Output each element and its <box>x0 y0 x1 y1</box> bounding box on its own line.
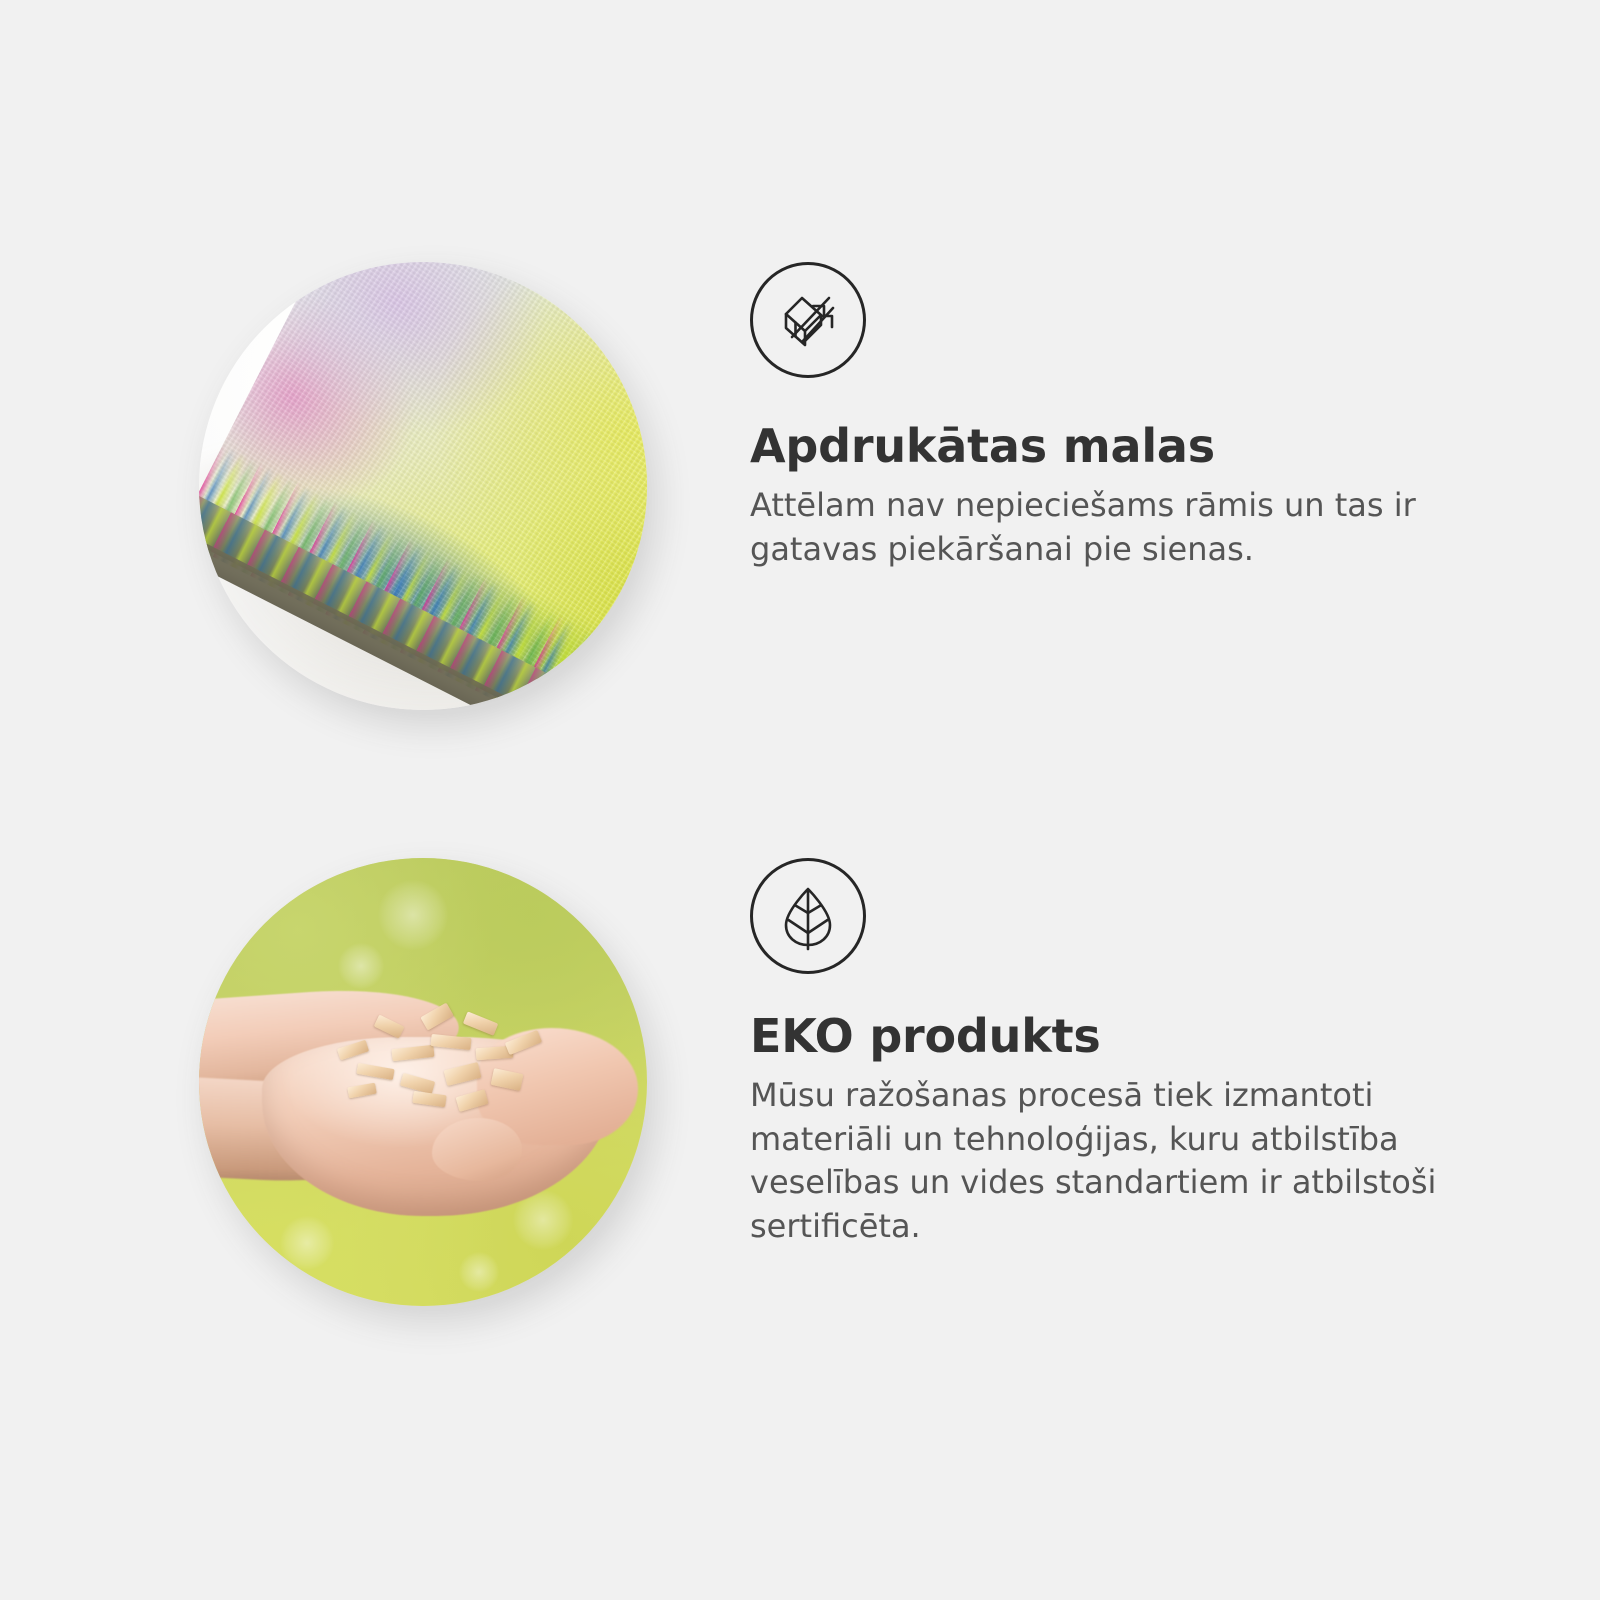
canvas-photo-scene <box>199 262 647 710</box>
printed-edges-text-column: Apdrukātas malas Attēlam nav nepieciešam… <box>750 262 1490 571</box>
thumb <box>432 1118 522 1181</box>
bokeh-light <box>378 880 448 950</box>
leaf-icon <box>750 858 866 974</box>
wood-chips-media <box>199 858 647 1306</box>
feature-description: Mūsu ražošanas procesā tiek izmantoti ma… <box>750 1060 1460 1248</box>
eco-photo-scene <box>199 858 647 1306</box>
eco-product-text-column: EKO produkts Mūsu ražošanas procesā tiek… <box>750 858 1490 1248</box>
bokeh-light <box>459 1252 499 1292</box>
feature-description: Attēlam nav nepieciešams rāmis un tas ir… <box>750 470 1460 571</box>
bokeh-light <box>338 943 384 989</box>
page-title: Apdrukātas malas <box>750 378 1490 470</box>
wood-chips-in-hands-photo <box>199 858 647 1306</box>
canvas-corner-media <box>199 262 647 710</box>
wood-chips-pile <box>329 988 562 1122</box>
printed-edges-icon <box>750 262 866 378</box>
canvas-corner-photo <box>199 262 647 710</box>
bokeh-light <box>280 1216 334 1270</box>
page-title: EKO produkts <box>750 974 1490 1060</box>
canvas-block <box>199 262 647 710</box>
feature-list-page: Apdrukātas malas Attēlam nav nepieciešam… <box>0 0 1600 1600</box>
